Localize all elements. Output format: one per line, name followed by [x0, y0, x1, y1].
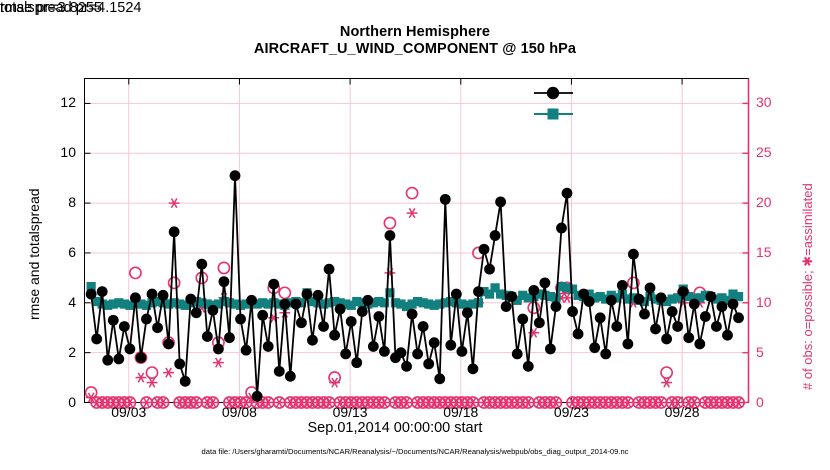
y-axis-left-tick: 12 — [40, 94, 76, 110]
y-axis-left-tick: 6 — [40, 244, 76, 260]
legend-label-totalspread: totalspread pr=4.1524 — [0, 0, 141, 16]
y-axis-right-tick: 25 — [756, 144, 786, 160]
y-axis-left-tick: 10 — [40, 144, 76, 160]
y-axis-right-tick: 30 — [756, 94, 786, 110]
x-axis-tick: 09/18 — [421, 404, 501, 420]
x-axis-tick: 09/23 — [531, 404, 611, 420]
data-file-caption: data file: /Users/gharamti/Documents/NCA… — [0, 447, 830, 456]
y-axis-left-tick: 0 — [40, 394, 76, 410]
x-axis-tick: 09/13 — [310, 404, 390, 420]
x-axis-label: Sep.01,2014 00:00:00 start — [0, 420, 790, 436]
y-axis-right-tick: 20 — [756, 194, 786, 210]
y-axis-right-tick: 15 — [756, 244, 786, 260]
y-axis-right-label: # of obs: o=possible; ✱=assimilated — [800, 183, 816, 390]
x-axis-tick: 09/03 — [89, 404, 169, 420]
y-axis-left-tick: 4 — [40, 294, 76, 310]
rmse-series — [86, 170, 744, 401]
plot-canvas — [0, 0, 830, 470]
y-axis-right-tick: 5 — [756, 344, 786, 360]
y-axis-left-tick: 8 — [40, 194, 76, 210]
totalspread-series — [87, 282, 744, 311]
y-axis-left-tick: 2 — [40, 344, 76, 360]
x-axis-tick: 09/28 — [642, 404, 722, 420]
y-axis-right-tick: 10 — [756, 294, 786, 310]
y-axis-right-tick: 0 — [756, 394, 786, 410]
x-axis-tick: 09/08 — [199, 404, 279, 420]
